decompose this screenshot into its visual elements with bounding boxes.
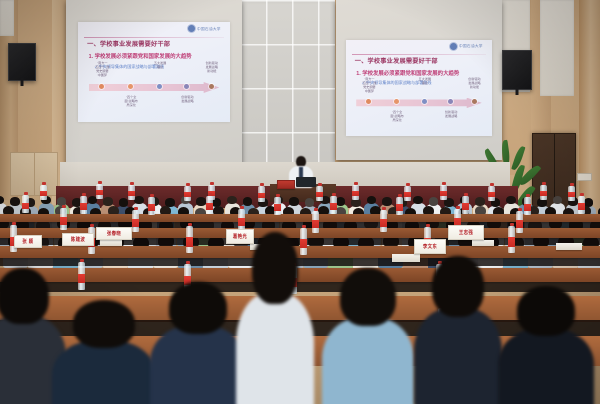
bottle-cap (98, 181, 102, 184)
bottle-label (312, 220, 319, 228)
bottle-cap (80, 259, 84, 262)
name-placard: 张 颖 (14, 235, 42, 248)
audience-member-head (243, 197, 253, 205)
bottle-label (488, 192, 495, 197)
timeline-node-label-above: “南方一 五四”？ 改 党史纲要 中国梦 (90, 62, 114, 77)
slide-left-wordmark: 中国石油大学 (197, 26, 221, 32)
timeline-node-label-above: 创新驱动 发展战略 新动能 (463, 78, 486, 90)
slide-left-logo: 中国石油大学 (188, 25, 223, 32)
slide-left-title: 一、学校事业发展需要好干部 (87, 39, 170, 48)
bottle-cap (406, 183, 410, 186)
bottle-label (540, 191, 547, 196)
timeline-node (184, 84, 189, 89)
book-stack (472, 240, 494, 246)
foreground-audience-member (236, 232, 314, 404)
bottle-cap (354, 182, 358, 185)
bottle-label (462, 203, 469, 209)
slide-right-divider (352, 54, 486, 55)
bottle-cap (240, 206, 244, 209)
bottle-cap (442, 182, 446, 185)
bottle-cap (426, 224, 430, 227)
conference-hall-photo: 中国石油大学 一、学校事业发展需要好干部 1. 学校发展必须紧跟党和国家发展的大… (0, 0, 600, 404)
water-bottle (316, 186, 323, 201)
timeline-node-label-above: “南方一 五四”？ 改 党史纲要 中国梦 (358, 78, 381, 93)
audience-member-head (506, 196, 516, 204)
audience-member-head (429, 197, 439, 205)
water-bottle (238, 209, 245, 231)
slide-left-timeline-arrow (89, 82, 220, 93)
bottle-label (96, 190, 103, 195)
audience-member-head (305, 198, 315, 206)
water-bottle (128, 185, 135, 200)
audience-member-head (413, 196, 423, 204)
slide-left-divider (84, 37, 224, 38)
name-placard: 张春晓 (96, 227, 132, 240)
bottle-cap (134, 207, 138, 210)
timeline-node-label-above: 五大发展 理念 (148, 62, 172, 70)
foreground-body (52, 341, 156, 404)
wall-outlet (577, 173, 592, 181)
water-bottle (80, 196, 87, 214)
bottle-label (316, 192, 323, 197)
bottle-cap (12, 222, 16, 225)
timeline-node-label-above: 创新驱动 发展战略 新动能 (200, 62, 224, 74)
water-bottle (524, 197, 531, 215)
bottle-cap (186, 183, 190, 186)
water-bottle (312, 211, 319, 233)
audience-member-head (10, 197, 20, 205)
bottle-label (148, 204, 155, 210)
bottle-label (274, 204, 281, 210)
wall-speaker-right-icon (502, 50, 532, 90)
water-bottle (60, 208, 67, 230)
bottle-label (22, 203, 29, 209)
audience-member-head (289, 197, 299, 205)
water-bottle (132, 210, 139, 232)
bottle-label (508, 237, 515, 246)
university-seal-icon (188, 25, 195, 32)
bottle-cap (208, 193, 212, 196)
water-bottle (568, 186, 575, 201)
name-placard-text: 陈建波 (71, 236, 85, 243)
bottle-label (330, 203, 337, 209)
foreground-body (236, 293, 314, 404)
bottle-label (132, 219, 139, 227)
timeline-node-label-below: “四个全 面”战略布 局深化 (119, 96, 143, 108)
water-bottle (508, 226, 515, 253)
timeline-node-label-below: “四个全 面”战略布 局深化 (385, 111, 408, 123)
audience-member-head (196, 197, 206, 205)
water-bottle (440, 185, 447, 200)
foreground-body (414, 308, 502, 404)
bottle-cap (518, 208, 522, 211)
timeline-node-label-below: 创新驱动 发展战略 (175, 96, 199, 104)
bottle-label (60, 217, 67, 224)
presenter-laptop (296, 177, 316, 187)
slide-right-wordmark: 中国石油大学 (459, 44, 483, 50)
audience-member-head (134, 196, 144, 204)
bottle-cap (210, 182, 214, 185)
foreground-head (252, 232, 299, 304)
water-bottle (78, 262, 85, 290)
water-bottle (206, 196, 213, 214)
water-bottle (40, 185, 47, 200)
book-stack (556, 243, 582, 250)
bottle-label (186, 237, 193, 246)
water-bottle (184, 186, 191, 201)
wall-panel-left-1 (0, 0, 14, 36)
water-bottle (96, 184, 103, 199)
name-placard: 王志强 (448, 225, 484, 240)
water-bottle (540, 185, 547, 200)
bottle-label (206, 203, 213, 209)
water-bottle (396, 197, 403, 215)
bottle-cap (150, 194, 154, 197)
water-bottle (488, 186, 495, 201)
slide-right: 中国石油大学 一、学校事业发展需要好干部 1. 学校发展必须紧跟党和国家发展的大… (346, 40, 492, 136)
slide-right-timeline-arrow (356, 98, 482, 109)
bottle-label (128, 191, 135, 196)
bottle-label (516, 220, 523, 228)
name-placard: 陈建波 (62, 233, 94, 246)
bottle-cap (542, 182, 546, 185)
name-placard-text: 王志强 (459, 229, 473, 236)
slide-right-subtitle: 1. 学校发展必须紧跟党和国家发展的大趋势 (356, 69, 459, 77)
bottle-cap (332, 193, 336, 196)
bottle-cap (314, 208, 318, 211)
audience-member-head (475, 197, 485, 205)
bottle-cap (276, 194, 280, 197)
center-paneled-wall (240, 0, 335, 172)
water-bottle (148, 197, 155, 215)
bottle-label (524, 204, 531, 210)
slide-right-logo: 中国石油大学 (450, 43, 485, 50)
projection-screen-right: 中国石油大学 一、学校事业发展需要好干部 1. 学校发展必须紧跟党和国家发展的大… (336, 0, 502, 160)
book-stack (100, 240, 122, 246)
bottle-cap (398, 194, 402, 197)
bottle-label (396, 204, 403, 210)
bottle-cap (42, 182, 46, 185)
bottle-cap (82, 193, 86, 196)
bottle-label (184, 192, 191, 197)
water-bottle (352, 185, 359, 200)
bottle-cap (318, 183, 322, 186)
water-bottle (380, 210, 387, 232)
water-bottle (22, 195, 29, 213)
audience-desk (0, 214, 600, 222)
bottle-cap (382, 207, 386, 210)
foreground-body (322, 318, 414, 404)
audience-member-head (103, 197, 113, 205)
slide-left-subtitle: 1. 学校发展必须紧跟党和国家发展的大趋势 (89, 52, 192, 60)
bottle-label (40, 191, 47, 196)
bottle-cap (24, 192, 28, 195)
bottle-label (568, 192, 575, 197)
foreground-audience-member (52, 300, 156, 404)
foreground-audience-member (498, 286, 594, 404)
timeline-node (209, 84, 214, 89)
bottle-cap (526, 194, 530, 197)
bottle-cap (490, 183, 494, 186)
audience-member-head (227, 196, 237, 204)
foreground-audience-member (150, 282, 246, 404)
bottle-cap (90, 224, 94, 227)
foreground-head (0, 268, 49, 324)
bottle-cap (260, 183, 264, 186)
name-placard: 李文东 (414, 239, 446, 254)
wall-cabinet-left (10, 152, 58, 196)
audience-member-head (382, 197, 392, 205)
wall-pilaster-right (579, 0, 600, 225)
water-bottle (274, 197, 281, 215)
bottle-cap (510, 223, 514, 226)
bottle-label (78, 274, 85, 284)
water-bottle (404, 186, 411, 201)
timeline-node (472, 99, 477, 104)
water-bottle (258, 186, 265, 202)
foreground-audience-member (322, 268, 414, 404)
name-placard-text: 张 颖 (22, 238, 33, 245)
timeline-node-label-above: 五大发展 理念 (413, 78, 436, 86)
university-seal-icon (450, 43, 457, 50)
water-bottle (186, 226, 193, 253)
bottle-label (80, 203, 87, 209)
bottle-cap (464, 193, 468, 196)
bottle-cap (186, 261, 190, 264)
foreground-head (517, 286, 575, 336)
foreground-body (498, 329, 594, 404)
bottle-cap (570, 183, 574, 186)
bottle-label (238, 218, 245, 225)
bottle-label (380, 219, 387, 227)
bottle-cap (62, 205, 66, 208)
name-placard-text: 张春晓 (107, 230, 121, 237)
foreground-head (340, 268, 395, 326)
foreground-audience-member (414, 256, 502, 404)
name-placard-text: 李文东 (423, 243, 437, 250)
foreground-head (169, 282, 227, 334)
timeline-node (99, 84, 104, 89)
bottle-label (258, 193, 265, 198)
bottle-cap (302, 225, 306, 228)
audience-member-head (336, 197, 346, 205)
presenter-nameplate (277, 180, 295, 189)
bottle-label (578, 203, 585, 209)
foreground-head (432, 256, 485, 317)
slide-left: 中国石油大学 一、学校事业发展需要好干部 1. 学校发展必须紧跟党和国家发展的大… (78, 22, 230, 122)
timeline-node (157, 84, 162, 89)
timeline-node (128, 84, 133, 89)
water-bottle (578, 196, 585, 214)
bottle-cap (580, 193, 584, 196)
water-bottle (330, 196, 337, 214)
bottle-label (440, 191, 447, 196)
bottle-cap (130, 182, 134, 185)
foreground-body (150, 326, 246, 404)
bottle-cap (188, 223, 192, 226)
timeline-node-label-below: 创新驱动 发展战略 (439, 111, 462, 119)
slide-right-title: 一、学校事业发展需要好干部 (355, 56, 438, 65)
timeline-node (422, 99, 427, 104)
wall-speaker-left-icon (8, 43, 36, 81)
projection-screen-left: 中国石油大学 一、学校事业发展需要好干部 1. 学校发展必须紧跟党和国家发展的大… (66, 0, 242, 165)
foreground-head (73, 300, 135, 348)
water-bottle (516, 211, 523, 233)
wall-panel-right-1 (540, 0, 574, 96)
water-bottle (462, 196, 469, 214)
bottle-cap (456, 206, 460, 209)
bottle-label (404, 192, 411, 197)
bottle-label (352, 191, 359, 196)
